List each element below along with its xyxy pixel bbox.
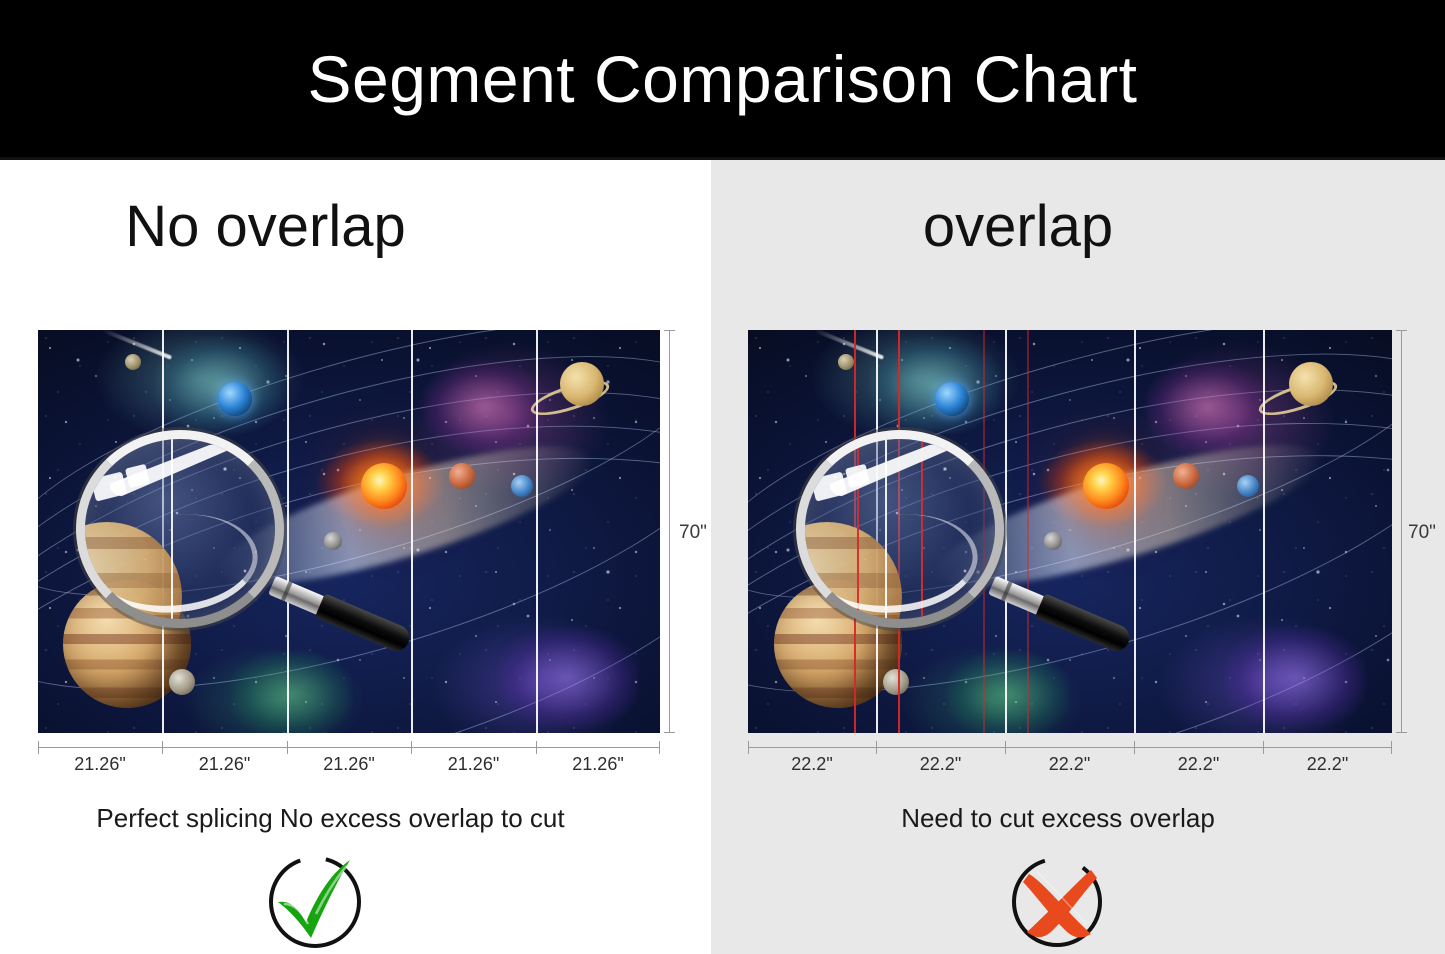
width-tick	[1391, 741, 1392, 754]
planet-jupiter-moon	[883, 669, 909, 695]
nebula-teal	[870, 338, 1000, 433]
planet-sun	[1083, 463, 1129, 509]
caption-no-overlap: Perfect splicing No excess overlap to cu…	[0, 805, 711, 831]
planet-saturn	[1289, 362, 1333, 406]
width-tick	[748, 741, 749, 754]
segment-label: 21.26"	[411, 755, 536, 773]
segment-label: 21.26"	[287, 755, 411, 773]
planet-jupiter	[774, 580, 902, 708]
panel-seam-1	[876, 330, 878, 733]
segment-label: 21.26"	[38, 755, 162, 773]
planet-mars	[449, 463, 475, 489]
panel-seam-4	[536, 330, 538, 733]
overlap-line-2	[898, 330, 900, 733]
panel-seam-4	[1263, 330, 1265, 733]
nebula-pink	[1147, 362, 1267, 452]
width-tick	[1005, 741, 1006, 754]
planet-moonlet	[1044, 532, 1062, 550]
nebula-green	[948, 652, 1068, 733]
segment-label: 22.2"	[1005, 755, 1134, 773]
height-dimension-cap-bottom	[664, 732, 675, 733]
nebula-purple	[498, 628, 638, 728]
height-dimension-cap-top	[664, 330, 675, 331]
panel-seam-1	[162, 330, 164, 733]
check-mark-icon	[264, 850, 366, 952]
panel-no-overlap: No overlap	[0, 160, 711, 954]
title-banner: Segment Comparison Chart	[0, 0, 1445, 157]
panel-seam-2	[287, 330, 289, 733]
panel-seam-3	[1134, 330, 1136, 733]
planet-jupiter-moon	[169, 669, 195, 695]
planet-neptune	[511, 475, 533, 497]
width-tick	[659, 741, 660, 754]
panel-seam-3	[411, 330, 413, 733]
cross-mark-icon	[1007, 850, 1109, 952]
width-tick	[536, 741, 537, 754]
planet-mars	[1173, 463, 1199, 489]
nebula-pink	[424, 362, 544, 452]
nebula-teal	[156, 338, 286, 433]
segment-label: 22.2"	[1134, 755, 1263, 773]
segment-labels-no-overlap: 21.26" 21.26" 21.26" 21.26" 21.26"	[38, 755, 660, 773]
nebula-green	[231, 652, 351, 733]
height-label-no-overlap: 70"	[679, 523, 707, 542]
width-tick	[1134, 741, 1135, 754]
segment-label: 22.2"	[1263, 755, 1392, 773]
width-dimension-line	[38, 747, 660, 748]
segment-label: 22.2"	[748, 755, 876, 773]
space-mural-image	[748, 330, 1392, 733]
panel-seam-2	[1005, 330, 1007, 733]
page-title: Segment Comparison Chart	[307, 46, 1137, 112]
width-tick	[1263, 741, 1264, 754]
width-tick	[38, 741, 39, 754]
width-dimension-line	[748, 747, 1392, 748]
height-dimension-cap-bottom	[1396, 732, 1407, 733]
planet-moonlet	[324, 532, 342, 550]
segment-comparison-chart: Segment Comparison Chart No overlap	[0, 0, 1445, 954]
segment-labels-overlap: 22.2" 22.2" 22.2" 22.2" 22.2"	[748, 755, 1392, 773]
mural-figure-overlap: 70" 22.2" 22.2" 22.2" 22.2" 22.2"	[748, 330, 1392, 733]
height-dimension-cap-top	[1396, 330, 1407, 331]
width-tick	[162, 741, 163, 754]
width-tick	[876, 741, 877, 754]
caption-overlap: Need to cut excess overlap	[711, 805, 1445, 831]
panel-heading-overlap: overlap	[711, 198, 1445, 256]
nebula-purple	[1225, 628, 1365, 728]
planet-earth	[935, 382, 969, 416]
segment-label: 22.2"	[876, 755, 1005, 773]
mural-figure-no-overlap: 70" 21.26" 21.26" 21.26" 21.26" 21.26"	[38, 330, 660, 733]
segment-label: 21.26"	[162, 755, 287, 773]
space-mural-image	[38, 330, 660, 733]
width-tick	[411, 741, 412, 754]
overlap-line-3	[983, 330, 985, 733]
height-dimension-line	[1401, 330, 1402, 733]
overlap-line-4	[1027, 330, 1029, 733]
height-label-overlap: 70"	[1408, 523, 1436, 542]
height-dimension-line	[669, 330, 670, 733]
width-tick	[287, 741, 288, 754]
overlap-line-1	[854, 330, 856, 733]
panel-heading-no-overlap: No overlap	[0, 198, 711, 256]
panel-overlap: overlap	[711, 160, 1445, 954]
segment-label: 21.26"	[536, 755, 660, 773]
